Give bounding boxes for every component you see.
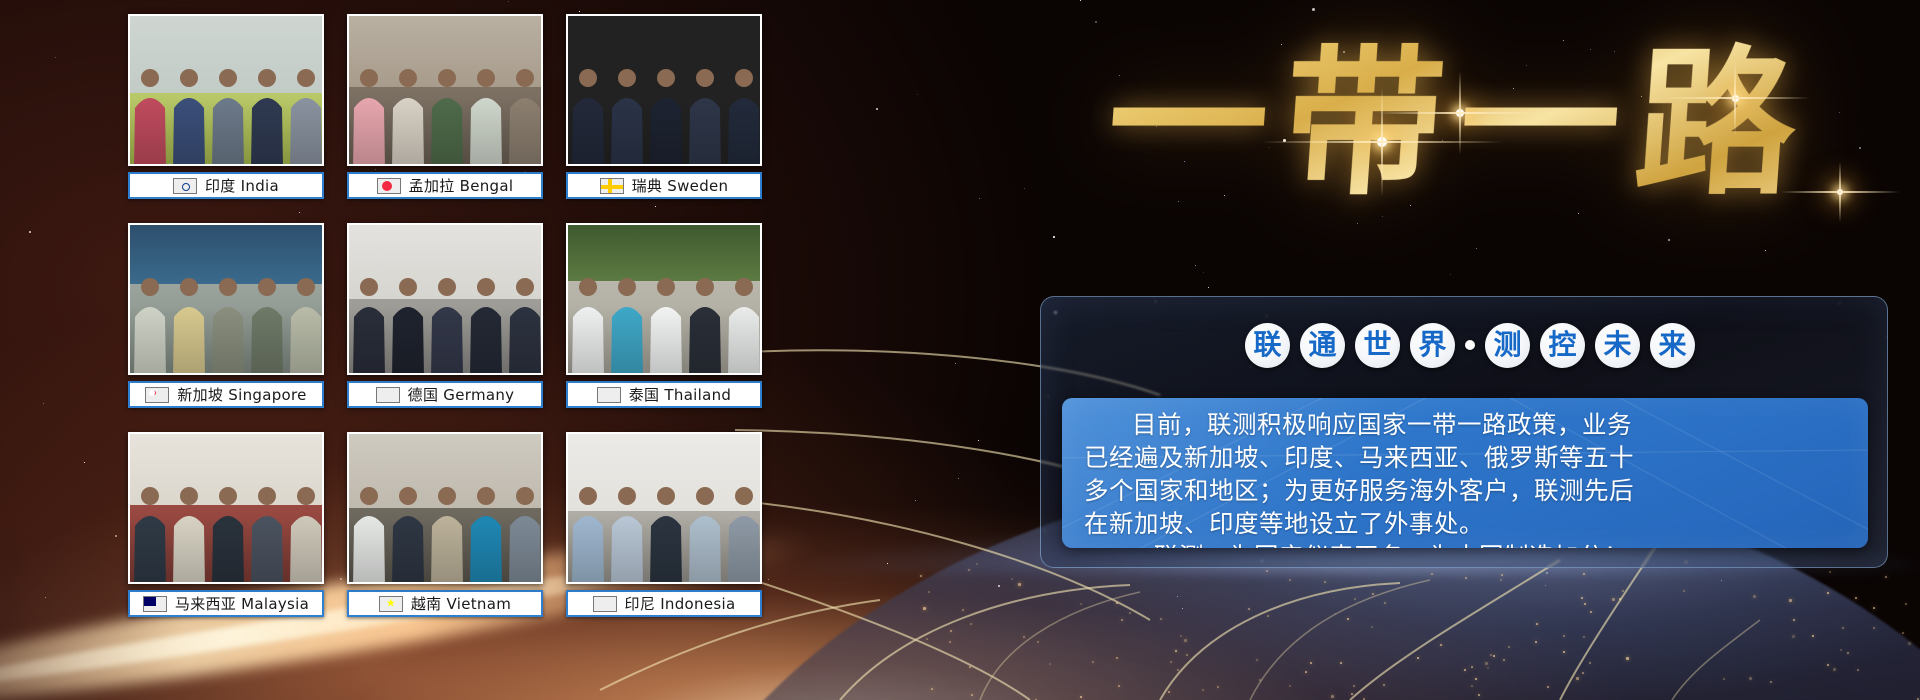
description-line-2: 已经遍及新加坡、印度、马来西亚、俄罗斯等五十 bbox=[1084, 441, 1846, 474]
flag-indonesia-icon bbox=[593, 596, 617, 612]
slogan-char-bead: 通 bbox=[1300, 323, 1345, 368]
gallery-item: 泰国 Thailand bbox=[566, 223, 762, 408]
flag-malaysia-icon bbox=[143, 596, 167, 612]
photo-bengal bbox=[347, 14, 543, 166]
flag-singapore-icon bbox=[145, 387, 169, 403]
country-caption: 瑞典 Sweden bbox=[566, 172, 762, 199]
description-box: 目前，联测积极响应国家一带一路政策，业务 已经遍及新加坡、印度、马来西亚、俄罗斯… bbox=[1062, 398, 1868, 548]
country-caption: 越南 Vietnam bbox=[347, 590, 543, 617]
country-label: 印尼 Indonesia bbox=[625, 593, 736, 614]
flag-thailand-icon bbox=[597, 387, 621, 403]
slogan-char-bead: 联 bbox=[1245, 323, 1290, 368]
gallery-item: 马来西亚 Malaysia bbox=[128, 432, 324, 617]
country-label: 德国 Germany bbox=[408, 384, 515, 405]
photo-vietnam bbox=[347, 432, 543, 584]
photo-sweden bbox=[566, 14, 762, 166]
gallery-item: 新加坡 Singapore bbox=[128, 223, 324, 408]
country-caption: 马来西亚 Malaysia bbox=[128, 590, 324, 617]
flag-bangladesh-icon bbox=[377, 178, 401, 194]
description-line-5: 联测，为国产仪表正名，为中国制造加分！ bbox=[1084, 540, 1846, 548]
slogan-char-bead: 测 bbox=[1485, 323, 1530, 368]
photo-thailand bbox=[566, 223, 762, 375]
country-caption: 德国 Germany bbox=[347, 381, 543, 408]
country-label: 印度 India bbox=[205, 175, 279, 196]
country-photo-grid: 印度 India孟加拉 Bengal瑞典 Sweden新加坡 Singapore… bbox=[128, 14, 762, 617]
photo-india bbox=[128, 14, 324, 166]
country-caption: 泰国 Thailand bbox=[566, 381, 762, 408]
gallery-item: 印度 India bbox=[128, 14, 324, 199]
slogan-separator-dot bbox=[1465, 340, 1475, 350]
gallery-item: 越南 Vietnam bbox=[347, 432, 543, 617]
country-caption: 孟加拉 Bengal bbox=[347, 172, 543, 199]
photo-indonesia bbox=[566, 432, 762, 584]
country-caption: 新加坡 Singapore bbox=[128, 381, 324, 408]
description-line-1: 目前，联测积极响应国家一带一路政策，业务 bbox=[1084, 408, 1846, 441]
country-label: 泰国 Thailand bbox=[629, 384, 732, 405]
country-caption: 印尼 Indonesia bbox=[566, 590, 762, 617]
country-label: 瑞典 Sweden bbox=[632, 175, 729, 196]
description-line-4: 在新加坡、印度等地设立了外事处。 bbox=[1084, 507, 1846, 540]
slogan-char-bead: 界 bbox=[1410, 323, 1455, 368]
description-line-3: 多个国家和地区；为更好服务海外客户，联测先后 bbox=[1084, 474, 1846, 507]
banner-stage: 印度 India孟加拉 Bengal瑞典 Sweden新加坡 Singapore… bbox=[0, 0, 1920, 700]
city-lights bbox=[900, 560, 1920, 700]
gallery-item: 孟加拉 Bengal bbox=[347, 14, 543, 199]
photo-singapore bbox=[128, 223, 324, 375]
gallery-item: 瑞典 Sweden bbox=[566, 14, 762, 199]
country-caption: 印度 India bbox=[128, 172, 324, 199]
country-label: 孟加拉 Bengal bbox=[409, 175, 514, 196]
photo-malaysia bbox=[128, 432, 324, 584]
slogan-char-bead: 世 bbox=[1355, 323, 1400, 368]
slogan-char-bead: 未 bbox=[1595, 323, 1640, 368]
slogan-char-bead: 来 bbox=[1650, 323, 1695, 368]
headline-calligraphy: 一带一路 bbox=[1002, 8, 1918, 238]
slogan-row: 联通世界测控未来 bbox=[1110, 314, 1830, 376]
flag-india-icon bbox=[173, 178, 197, 194]
country-label: 越南 Vietnam bbox=[411, 593, 511, 614]
slogan-char-bead: 控 bbox=[1540, 323, 1585, 368]
country-label: 新加坡 Singapore bbox=[177, 384, 306, 405]
gallery-item: 印尼 Indonesia bbox=[566, 432, 762, 617]
gallery-item: 德国 Germany bbox=[347, 223, 543, 408]
country-label: 马来西亚 Malaysia bbox=[175, 593, 309, 614]
photo-germany bbox=[347, 223, 543, 375]
flag-sweden-icon bbox=[600, 178, 624, 194]
flag-germany-icon bbox=[376, 387, 400, 403]
flag-vietnam-icon bbox=[379, 596, 403, 612]
